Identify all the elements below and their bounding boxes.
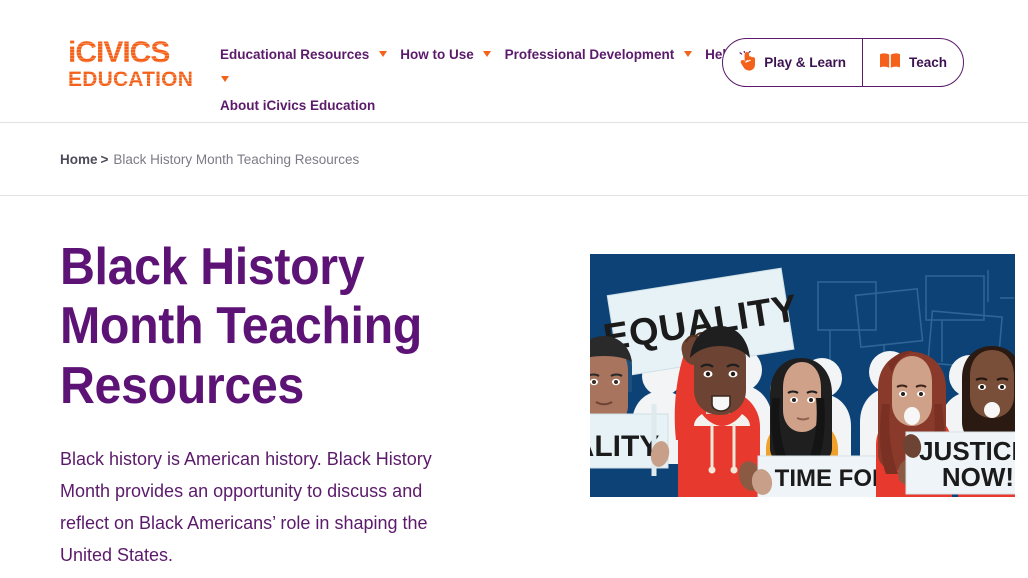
site-logo[interactable]: iCIVICS EDUCATION	[68, 38, 194, 85]
nav-item-about-icivics-education[interactable]: About iCivics Education	[220, 93, 375, 118]
hero-section: Black History Month Teaching Resources B…	[60, 196, 968, 571]
logo-text-education: EDUCATION	[68, 69, 194, 90]
page-title: Black History Month Teaching Resources	[60, 238, 432, 416]
chevron-down-icon[interactable]	[483, 51, 491, 57]
logo-text-icivics: iCIVICS	[68, 38, 194, 68]
breadcrumb-home-link[interactable]: Home	[60, 152, 98, 167]
nav-row-primary: Educational Resources How to Use Profess…	[220, 42, 740, 92]
hero-image-column: EQUALITY	[550, 238, 1028, 571]
header-cta-group: Play & Learn Teach	[722, 38, 964, 87]
main-navigation: Educational Resources How to Use Profess…	[220, 42, 740, 118]
svg-text:TIME FOR: TIME FOR	[775, 465, 890, 492]
breadcrumb: Home > Black History Month Teaching Reso…	[0, 123, 1028, 196]
main-content: Black History Month Teaching Resources B…	[0, 196, 1028, 578]
chevron-down-icon[interactable]	[379, 51, 387, 57]
page-intro-paragraph: Black history is American history. Black…	[60, 443, 452, 571]
hero-text-column: Black History Month Teaching Resources B…	[60, 238, 480, 571]
open-book-icon	[879, 52, 901, 73]
teach-label: Teach	[909, 55, 947, 70]
protest-illustration: EQUALITY	[590, 254, 1015, 497]
nav-item-how-to-use[interactable]: How to Use	[400, 42, 474, 67]
nav-item-educational-resources[interactable]: Educational Resources	[220, 42, 369, 67]
site-header: iCIVICS EDUCATION Educational Resources …	[0, 0, 1028, 123]
chevron-down-icon[interactable]	[221, 76, 229, 82]
nav-item-professional-development[interactable]: Professional Development	[505, 42, 675, 67]
teach-button[interactable]: Teach	[862, 39, 963, 86]
chevron-down-icon[interactable]	[684, 51, 692, 57]
svg-text:NOW!: NOW!	[942, 462, 1014, 492]
breadcrumb-current-page: Black History Month Teaching Resources	[113, 152, 359, 167]
play-and-learn-button[interactable]: Play & Learn	[723, 39, 862, 86]
play-and-learn-label: Play & Learn	[764, 55, 846, 70]
breadcrumb-separator: >	[101, 152, 109, 167]
pointing-hand-icon	[739, 51, 756, 74]
nav-row-secondary: About iCivics Education	[220, 92, 740, 117]
svg-text:ALITY: ALITY	[590, 430, 659, 463]
